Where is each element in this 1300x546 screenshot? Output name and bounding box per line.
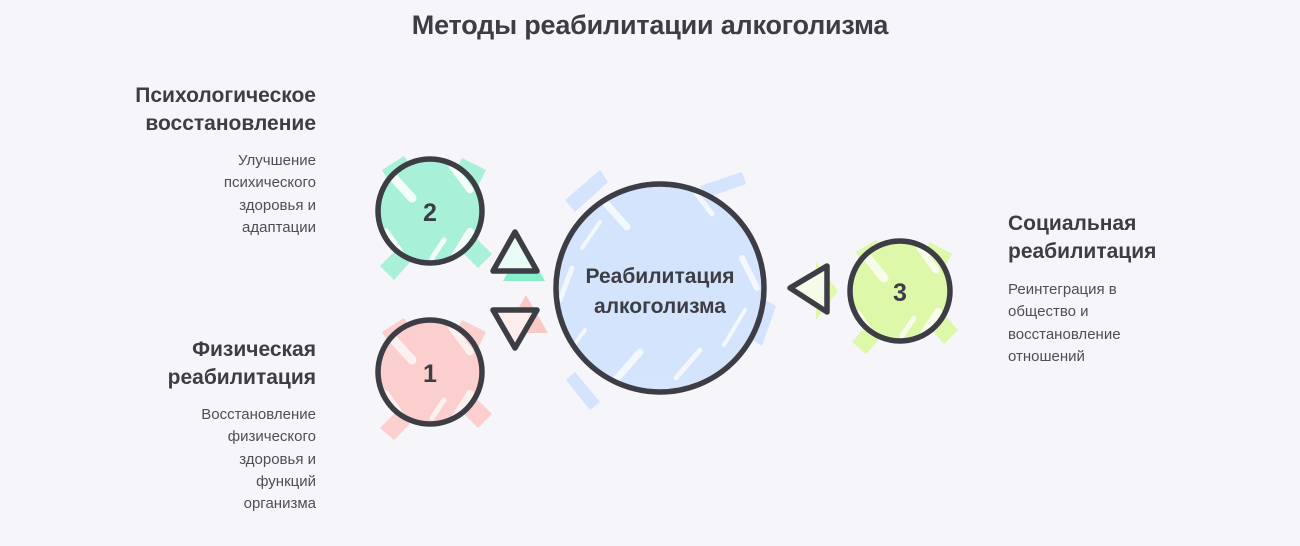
center-node[interactable]: Реабилитация алкоголизма	[556, 170, 776, 410]
label-block-psychological: Психологическое восстановление Улучшение…	[26, 82, 316, 239]
heading-social-line1: Социальная	[1008, 210, 1278, 238]
body-physical-line1: Восстановление	[26, 404, 316, 426]
body-physical-line3: здоровья и	[26, 449, 316, 471]
arrow-left-lime-icon	[790, 262, 838, 320]
diagram-canvas: Методы реабилитации алкоголизма	[0, 0, 1300, 546]
node-circle-2[interactable]: 2	[378, 156, 492, 280]
body-social-line3: восстановление	[1008, 324, 1278, 346]
heading-social-line2: реабилитация	[1008, 238, 1278, 266]
arrow-up-mint-icon	[493, 232, 545, 281]
body-psychological-line3: здоровья и	[26, 195, 316, 217]
center-label-line2: алкоголизма	[594, 295, 726, 318]
heading-physical-line2: реабилитация	[26, 364, 316, 392]
body-physical-line2: физического	[26, 426, 316, 448]
node-circle-3[interactable]: 3	[850, 240, 958, 354]
heading-psychological-line1: Психологическое	[26, 82, 316, 110]
body-psychological-line2: психического	[26, 172, 316, 194]
heading-psychological-line2: восстановление	[26, 110, 316, 138]
body-social-line4: отношений	[1008, 346, 1278, 368]
body-psychological: Улучшение психического здоровья и адапта…	[26, 150, 316, 238]
body-social: Реинтеграция в общество и восстановление…	[1008, 279, 1278, 367]
body-physical: Восстановление физического здоровья и фу…	[26, 404, 316, 514]
body-psychological-line1: Улучшение	[26, 150, 316, 172]
heading-physical-line1: Физическая	[26, 336, 316, 364]
body-physical-line4: функций	[26, 471, 316, 493]
heading-social: Социальная реабилитация	[1008, 210, 1278, 265]
node-number-1: 1	[423, 360, 437, 388]
node-number-3: 3	[893, 279, 907, 307]
label-block-social: Социальная реабилитация Реинтеграция в о…	[1008, 210, 1278, 368]
body-psychological-line4: адаптации	[26, 217, 316, 239]
node-circle-1[interactable]: 1	[378, 318, 492, 440]
center-label-line1: Реабилитация	[585, 265, 734, 288]
body-physical-line5: организма	[26, 493, 316, 515]
body-social-line1: Реинтеграция в	[1008, 279, 1278, 301]
label-block-physical: Физическая реабилитация Восстановление ф…	[26, 336, 316, 515]
body-social-line2: общество и	[1008, 301, 1278, 323]
node-number-2: 2	[423, 199, 437, 227]
heading-physical: Физическая реабилитация	[26, 336, 316, 391]
heading-psychological: Психологическое восстановление	[26, 82, 316, 137]
arrow-down-pink-icon	[493, 295, 548, 348]
